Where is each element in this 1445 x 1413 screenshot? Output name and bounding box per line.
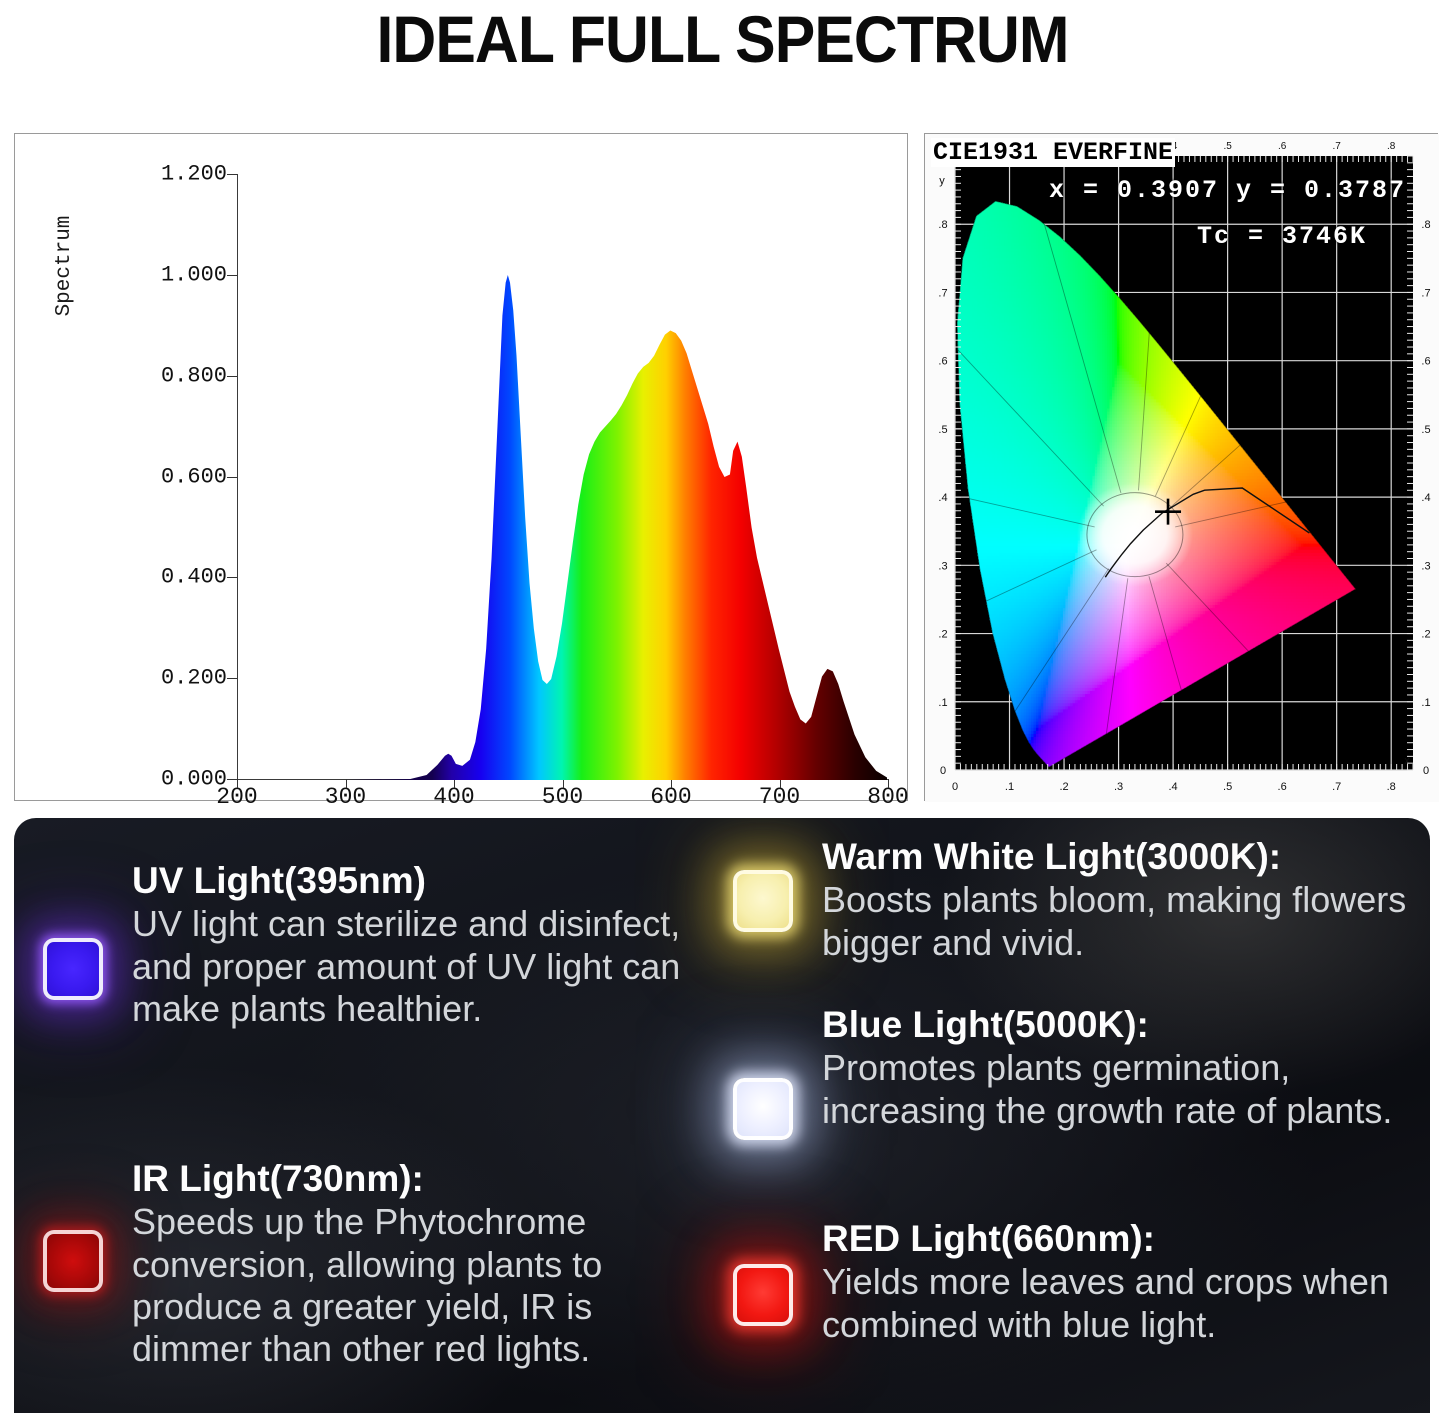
x-tick-mark	[237, 779, 238, 788]
x-tick-mark	[671, 779, 672, 788]
y-tick-label: 1.200	[161, 162, 227, 187]
y-tick-mark	[227, 477, 237, 478]
y-tick-mark	[227, 678, 237, 679]
y-axis-label: Spectrum	[53, 166, 76, 366]
x-tick-mark	[888, 779, 889, 788]
x-tick-mark	[454, 779, 455, 788]
y-tick-mark	[227, 275, 237, 276]
x-tick-mark	[780, 779, 781, 788]
y-axis-ticks: 0.0000.2000.4000.6000.8001.0001.200	[75, 134, 227, 800]
y-tick-mark	[227, 174, 237, 175]
y-tick-label: 0.400	[161, 565, 227, 590]
spectrum-curve	[237, 174, 887, 780]
y-tick-label: 0.800	[161, 363, 227, 388]
x-tick-mark	[563, 779, 564, 788]
y-tick-mark	[227, 779, 237, 780]
y-tick-label: 0.200	[161, 666, 227, 691]
x-tick-mark	[346, 779, 347, 788]
cie-chromaticity-panel: 0000.1.1.1.1.2.2.2.2.3.3.3.3.4.4.4.4.5.5…	[924, 133, 1438, 801]
y-tick-mark	[227, 376, 237, 377]
spectrum-chart-panel: Spectrum 0.0000.2000.4000.6000.8001.0001…	[14, 133, 908, 801]
y-tick-mark	[227, 577, 237, 578]
y-tick-label: 0.600	[161, 464, 227, 489]
page-title: IDEAL FULL SPECTRUM	[58, 0, 1387, 72]
charts-row: Spectrum 0.0000.2000.4000.6000.8001.0001…	[0, 133, 1445, 805]
y-tick-label: 1.000	[161, 262, 227, 287]
spectrum-plot-area: Spectrum 0.0000.2000.4000.6000.8001.0001…	[15, 134, 907, 800]
